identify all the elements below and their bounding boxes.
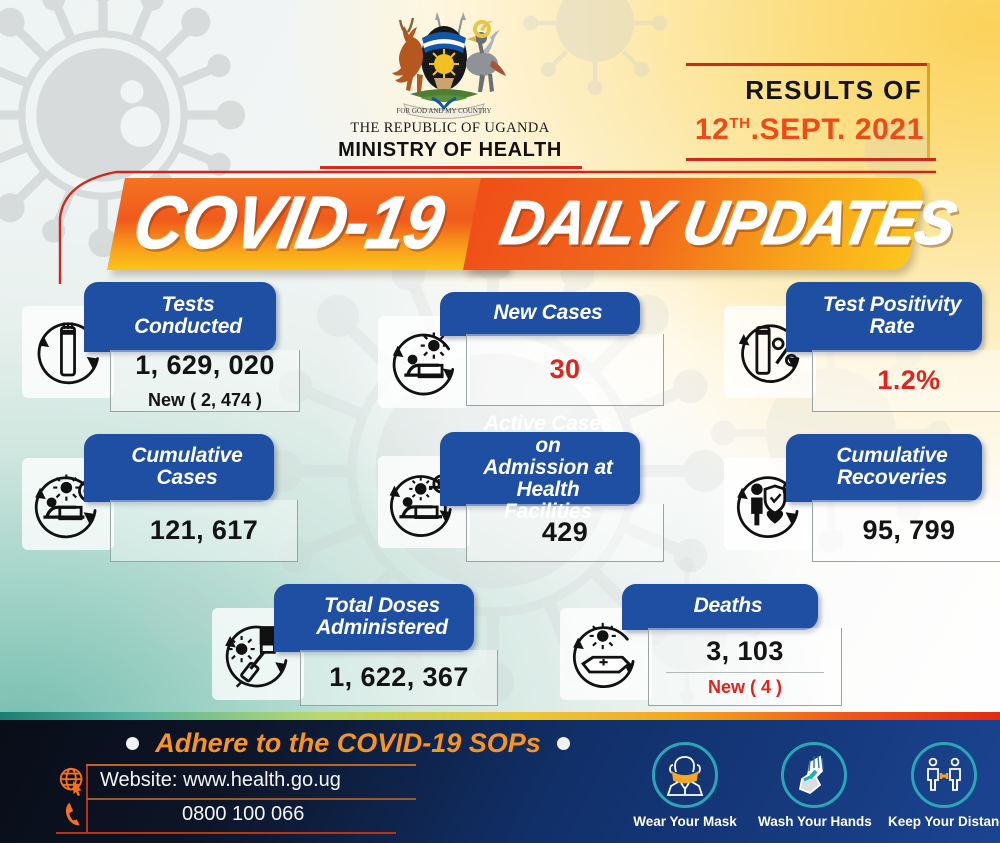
card-title: CumulativeRecoveries <box>836 445 947 489</box>
page-header: FOR GOD AND MY COUNTRY THE REPUBLIC OF U… <box>0 0 1000 172</box>
sop-banner-text: Adhere to the COVID-19 SOPs <box>155 728 541 759</box>
face-mask-icon <box>652 742 718 808</box>
card-title: New Cases <box>493 302 602 324</box>
card-header-total-doses: Total DosesAdministered <box>274 584 474 652</box>
title-daily-updates: DAILY UPDATES <box>495 188 961 259</box>
card-header-active-cases: Active Cases onAdmission atHealth Facili… <box>440 432 640 506</box>
card-body-test-positivity-rate: 1.2% <box>812 350 1000 412</box>
bullet-dot-icon <box>557 737 570 750</box>
telephone-text[interactable]: 0800 100 066 <box>182 803 304 826</box>
uganda-coat-of-arms-icon: FOR GOD AND MY COUNTRY <box>376 8 512 124</box>
ministry-label: MINISTRY OF HEALTH <box>300 139 600 162</box>
card-body-cumulative-recoveries: 95, 799 <box>812 500 1000 562</box>
sop-banner: Adhere to the COVID-19 SOPs <box>88 728 608 758</box>
title-banner: COVID-19 DAILY UPDATES <box>58 164 938 286</box>
contact-rule-top <box>86 764 416 766</box>
card-body-active-cases: 429 <box>466 504 664 562</box>
card-body-new-cases: 30 <box>466 334 664 406</box>
card-value: 429 <box>542 517 588 548</box>
sop-label: Wash Your Hands <box>758 814 870 829</box>
card-title: CumulativeCases <box>131 445 242 489</box>
card-value: 95, 799 <box>863 515 956 546</box>
rainbow-divider-strip <box>0 712 1000 720</box>
republic-label: THE REPUBLIC OF UGANDA <box>300 120 600 137</box>
sop-icons-row: Wear Your Mask Wash Your Hands <box>620 742 1000 838</box>
ministry-titles: THE REPUBLIC OF UGANDA MINISTRY OF HEALT… <box>300 120 600 162</box>
contact-rule-middle <box>86 798 416 800</box>
stat-cards: TestsConducted 1, 629, 020 New ( 2, 474 … <box>0 282 1000 722</box>
results-date-day: 12 <box>695 113 730 146</box>
card-body-deaths: 3, 103 New ( 4 ) <box>648 628 842 706</box>
contact-block: Website: www.health.go.ug 0800 100 066 <box>56 764 616 836</box>
card-body-tests-conducted: 1, 629, 020 New ( 2, 474 ) <box>110 350 300 412</box>
results-date-suffix: TH <box>729 115 750 132</box>
results-box-top-rule <box>686 63 930 66</box>
card-body-cumulative-cases: 121, 617 <box>110 500 298 562</box>
card-title: TestsConducted <box>134 294 242 338</box>
sop-label: Keep Your Distance <box>888 814 1000 829</box>
contact-rule-bottom <box>56 832 396 834</box>
sop-item-wash-hands: Wash Your Hands <box>758 742 870 838</box>
results-box-bottom-rule <box>686 158 936 161</box>
card-value: 1.2% <box>877 365 940 396</box>
card-header-new-cases: New Cases <box>440 292 640 336</box>
card-title: Total DosesAdministered <box>316 595 448 639</box>
card-new-value: New ( 2, 474 ) <box>148 390 262 411</box>
telephone-icon <box>62 800 88 828</box>
sop-item-keep-distance: Keep Your Distance <box>888 742 1000 838</box>
results-date: 12TH.SEPT. 2021 <box>695 113 924 147</box>
title-covid19: COVID-19 <box>127 180 450 265</box>
sop-label: Wear Your Mask <box>630 814 740 829</box>
card-title: Test PositivityRate <box>823 294 962 338</box>
page-footer: Adhere to the COVID-19 SOPs Website: www… <box>0 720 1000 843</box>
card-value: 30 <box>550 354 581 385</box>
washing-hands-icon <box>781 742 847 808</box>
card-header-tests-conducted: TestsConducted <box>84 282 276 352</box>
social-distance-icon <box>911 742 977 808</box>
sop-item-wear-mask: Wear Your Mask <box>630 742 740 838</box>
website-text[interactable]: Website: www.health.go.ug <box>100 769 341 792</box>
card-body-total-doses: 1, 622, 367 <box>300 650 498 706</box>
card-value: 1, 629, 020 <box>135 350 275 381</box>
svg-text:FOR GOD AND MY COUNTRY: FOR GOD AND MY COUNTRY <box>396 107 491 115</box>
results-date-rest: .SEPT. 2021 <box>751 113 924 146</box>
card-value: 3, 103 <box>706 636 783 667</box>
results-date-box: RESULTS OF 12TH.SEPT. 2021 <box>686 63 930 161</box>
bullet-dot-icon <box>126 737 139 750</box>
globe-cursor-icon <box>58 766 88 796</box>
card-value: 121, 617 <box>150 515 258 546</box>
card-value: 1, 622, 367 <box>329 662 469 693</box>
card-divider <box>666 672 823 673</box>
card-header-test-positivity-rate: Test PositivityRate <box>786 282 982 352</box>
results-of-label: RESULTS OF <box>745 75 922 106</box>
card-title: Deaths <box>694 595 763 617</box>
card-header-deaths: Deaths <box>622 584 818 630</box>
card-header-cumulative-recoveries: CumulativeRecoveries <box>786 434 982 502</box>
card-new-value: New ( 4 ) <box>708 677 782 698</box>
card-header-cumulative-cases: CumulativeCases <box>84 434 274 502</box>
results-box-right-rule <box>927 63 930 161</box>
